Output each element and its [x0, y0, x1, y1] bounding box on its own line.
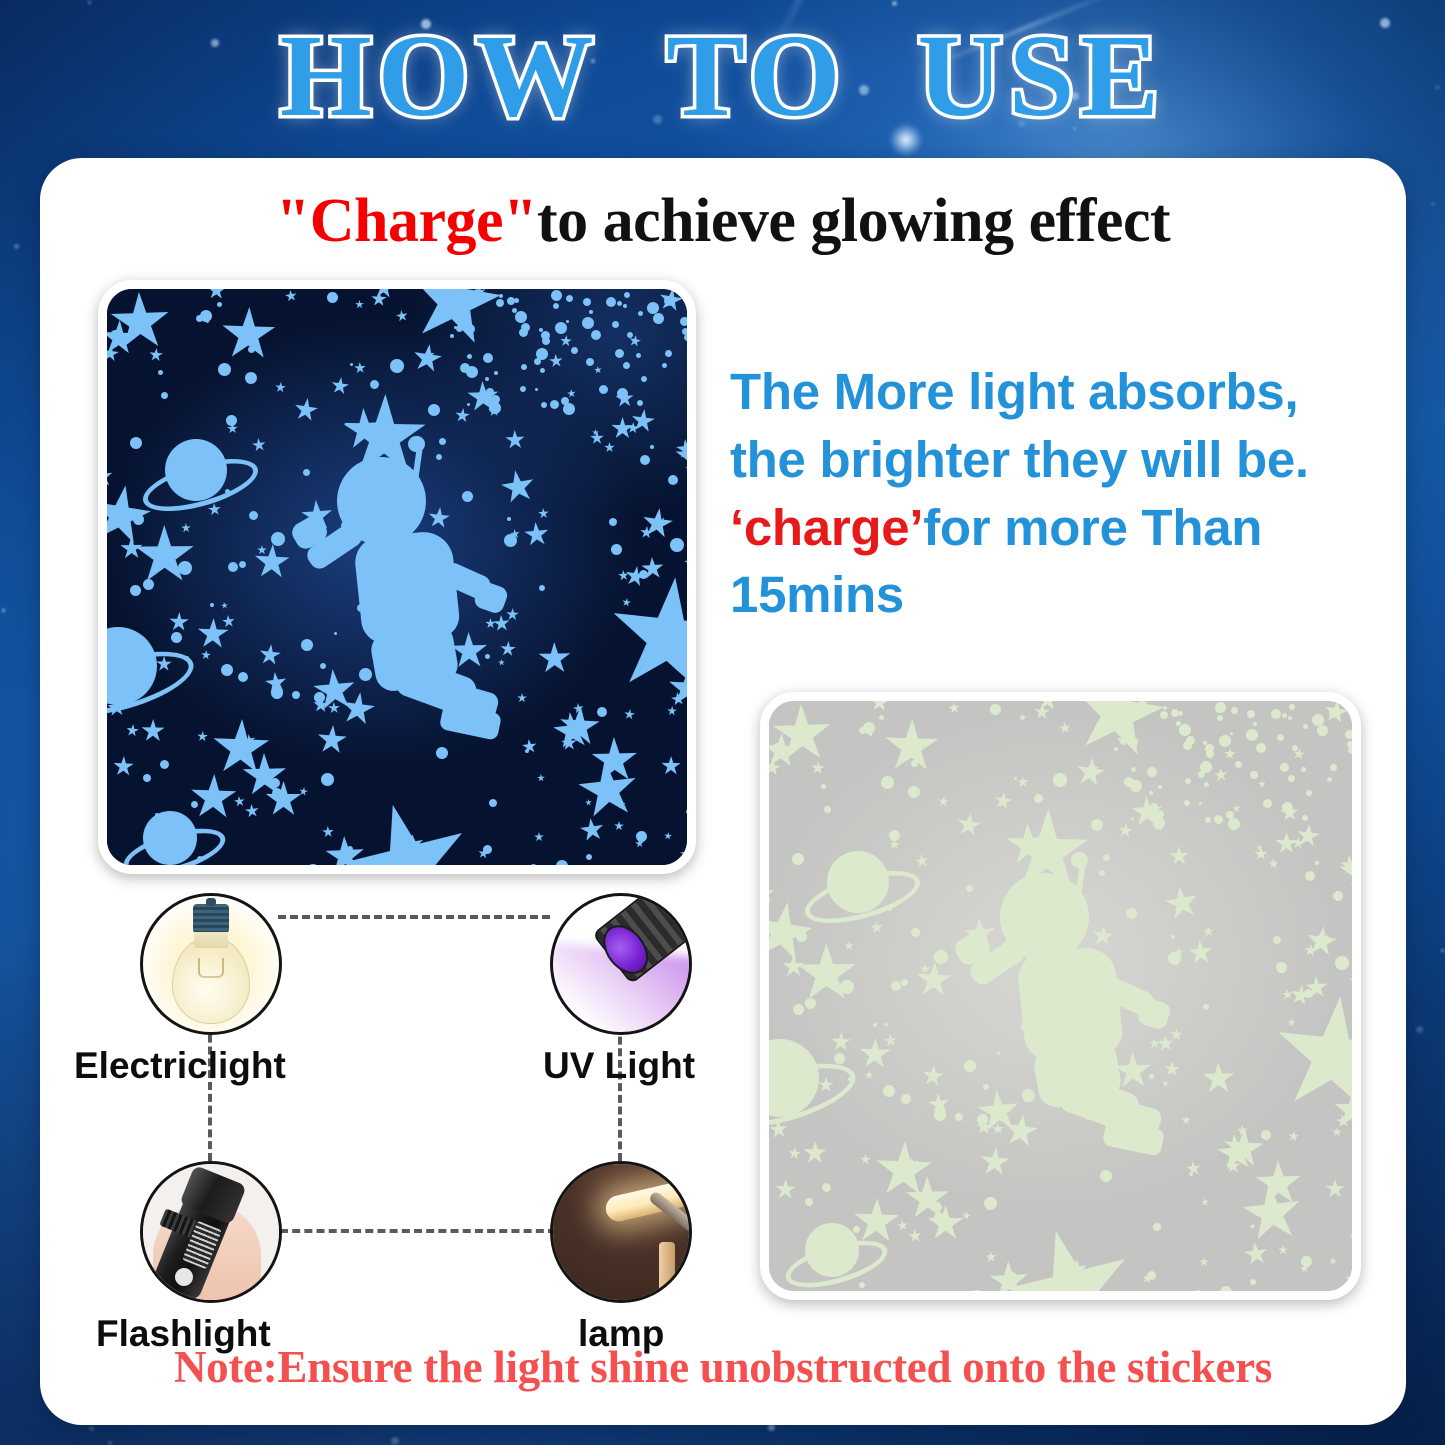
note-text: Note:Ensure the light shine unobstructed… — [40, 1341, 1406, 1393]
instruction-line-1: The More light absorbs, — [730, 363, 1298, 420]
diagram-label-uvlight: UV Light — [543, 1045, 695, 1087]
headline-rest: to achieve glowing effect — [537, 187, 1170, 255]
sticker-preview-daylight — [760, 692, 1361, 1300]
lamp-post — [659, 1242, 675, 1303]
instruction-text: The More light absorbs, the brighter the… — [730, 358, 1390, 629]
headline: "Charge"to achieve glowing effect — [40, 190, 1406, 252]
connector-top — [278, 915, 550, 919]
light-sources-diagram: Electriclight UV Light — [140, 893, 700, 1323]
night-space-scene — [107, 289, 687, 865]
instruction-line-2: the brighter they will be. — [730, 431, 1309, 488]
daylight-space-scene — [769, 701, 1352, 1291]
headline-quoted-word: "Charge" — [276, 187, 537, 255]
poster-root: HOW TO USE "Charge"to achieve glowing ef… — [0, 0, 1445, 1445]
light-bulb-icon — [140, 893, 282, 1035]
sticker-preview-dark — [98, 280, 696, 874]
bulb-tip — [206, 898, 216, 906]
page-title: HOW TO USE — [0, 14, 1445, 138]
instruction-line-4: 15mins — [730, 566, 904, 623]
bulb-screw-cap — [193, 904, 229, 932]
handheld-flashlight-icon — [140, 1161, 282, 1303]
bulb-bulb-shape — [172, 936, 250, 1024]
uv-flashlight-icon — [550, 893, 692, 1035]
desk-lamp-icon — [550, 1161, 692, 1303]
content-card: "Charge"to achieve glowing effect The Mo… — [40, 158, 1406, 1425]
instruction-line-3-rest: for more Than — [923, 499, 1262, 556]
instruction-charge-word: ‘charge’ — [730, 499, 923, 556]
connector-bottom — [280, 1229, 556, 1233]
diagram-label-electriclight: Electriclight — [74, 1045, 286, 1087]
bulb-filament — [198, 958, 224, 978]
